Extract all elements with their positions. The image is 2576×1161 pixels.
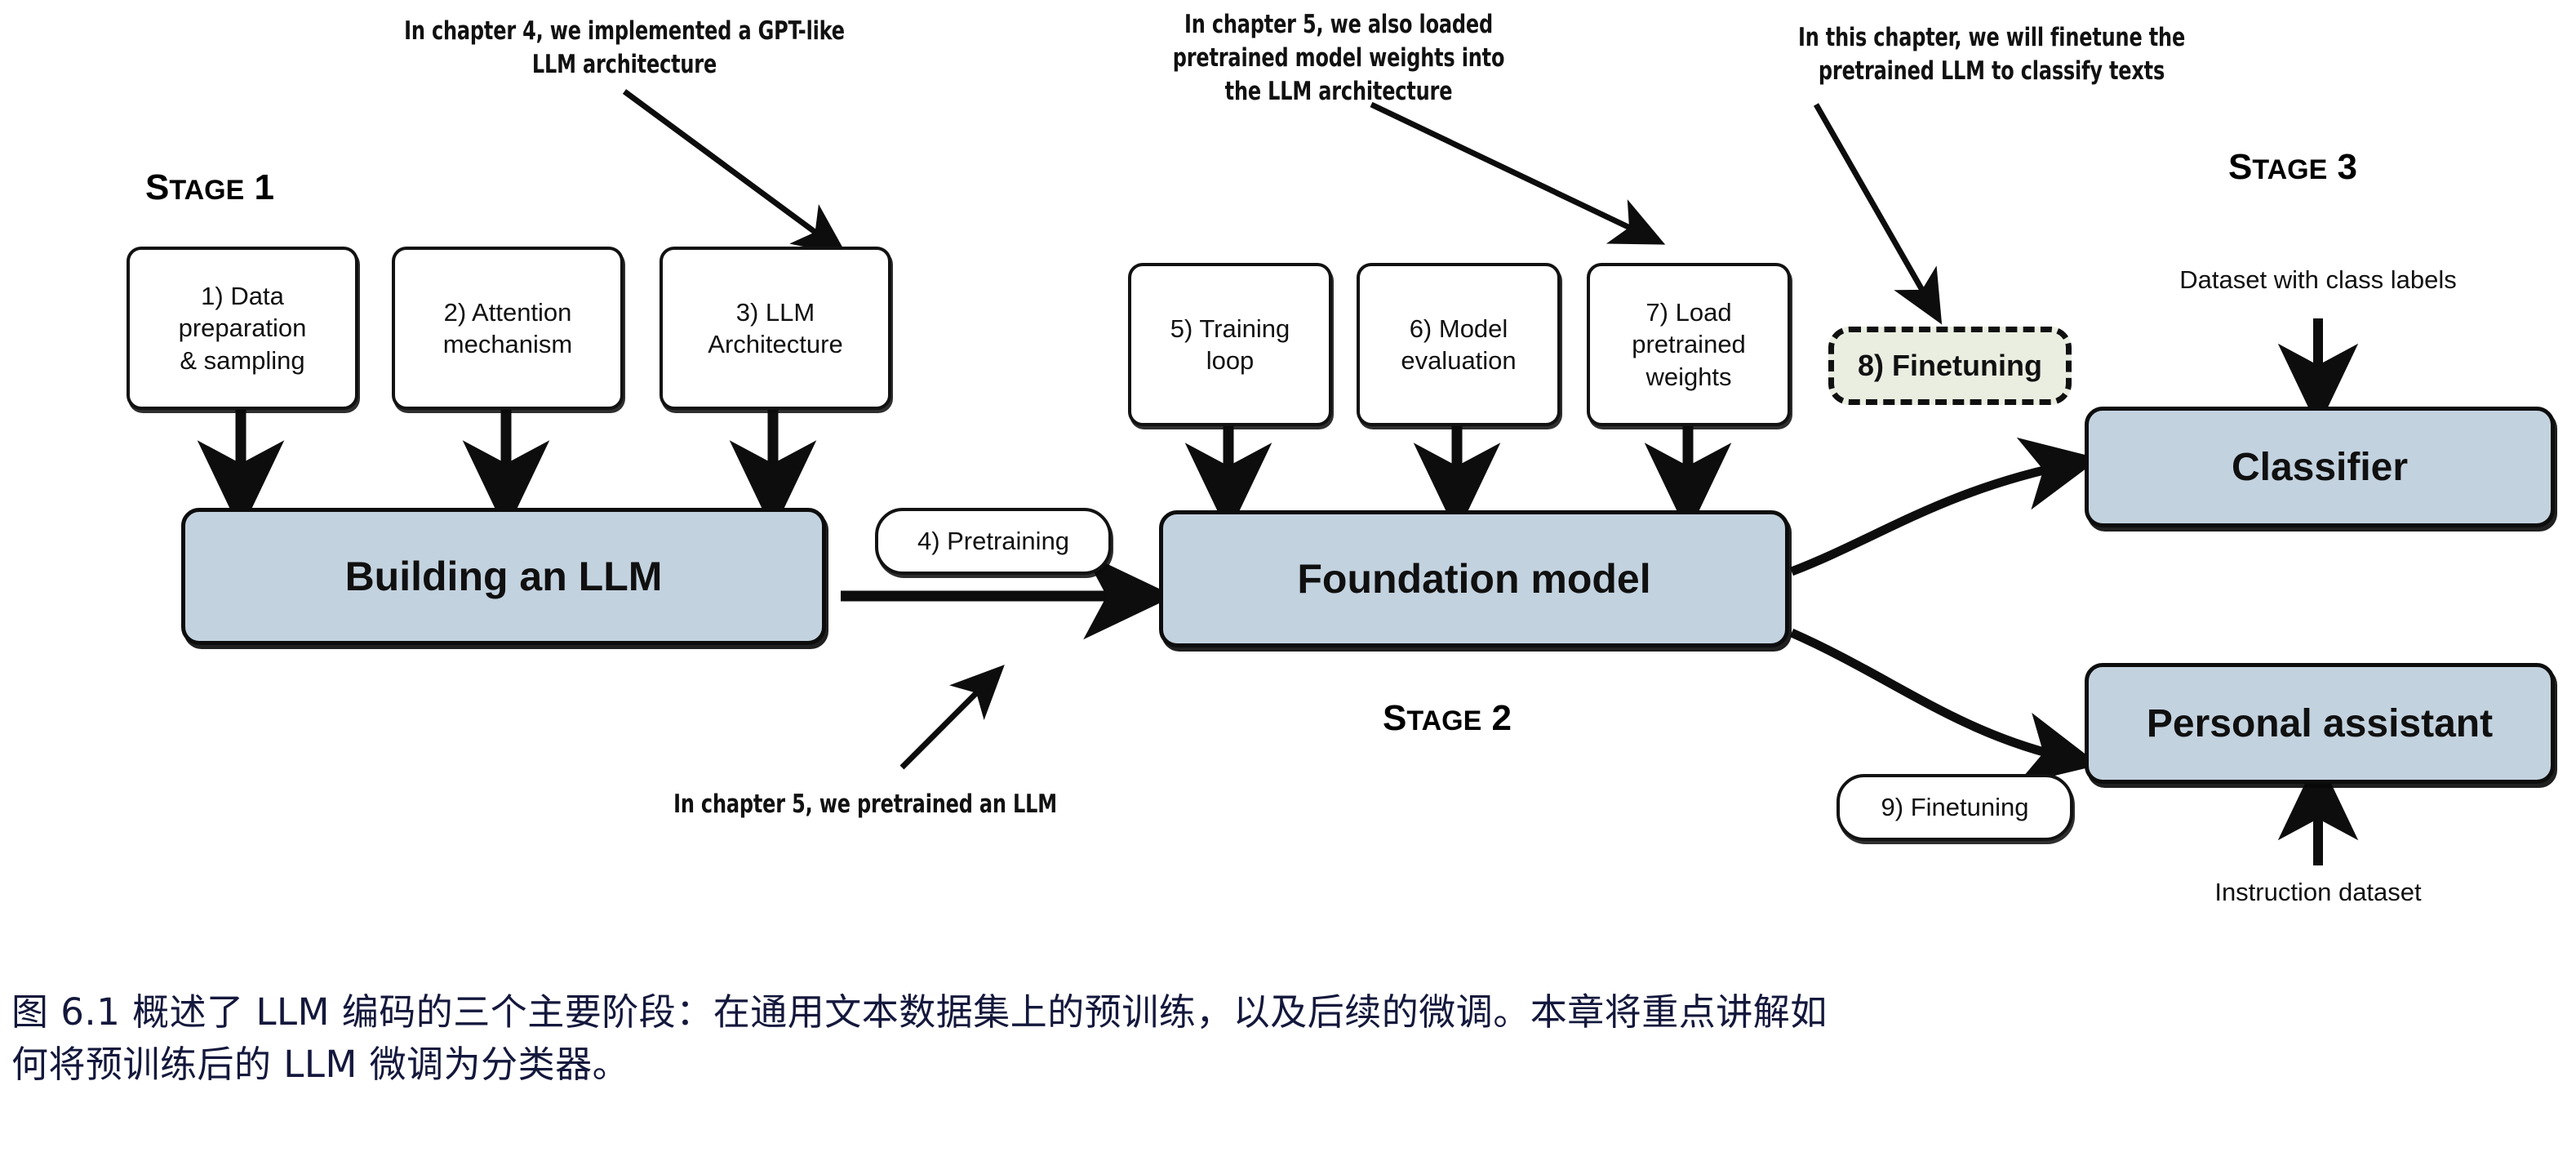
building-an-llm-box[interactable]: Building an LLM <box>181 508 826 645</box>
stage-1-rest: TAGE <box>169 175 244 206</box>
figure-canvas: In chapter 4, we implemented a GPT-like … <box>0 0 2576 1161</box>
annotation-chapter5-pretrained: In chapter 5, we pretrained an LLM <box>571 788 1160 821</box>
dataset-class-labels-caption: Dataset with class labels <box>2098 265 2538 295</box>
stage-1-number: 1 <box>244 167 274 207</box>
finetuning-assistant-pill[interactable]: 9) Finetuning <box>1837 774 2073 841</box>
stage-3-rest: TAGE <box>2252 154 2327 185</box>
figure-caption: 图 6.1 概述了 LLM 编码的三个主要阶段：在通用文本数据集上的预训练，以及… <box>11 986 2558 1091</box>
foundation-model-box[interactable]: Foundation model <box>1159 510 1789 647</box>
stage-3-number: 3 <box>2327 147 2357 187</box>
annotation-chapter5-loaded: In chapter 5, we also loaded pretrained … <box>1058 8 1619 109</box>
step-box-7[interactable]: 7) Load pretrained weights <box>1587 263 1791 426</box>
personal-assistant-box[interactable]: Personal assistant <box>2085 663 2555 784</box>
annotation-chapter4: In chapter 4, we implemented a GPT-like … <box>319 15 930 82</box>
arrow-foundation-to-assistant <box>1792 633 2073 759</box>
arrow-chapter5pretrained-to-pretraining <box>902 678 992 767</box>
stage-1-label: STAGE 1 <box>145 167 274 208</box>
arrow-chapter5-to-foundation <box>1371 105 1649 237</box>
stage-2-initial: S <box>1383 698 1406 738</box>
caption-line-2: 何将预训练后的 LLM 微调为分类器。 <box>11 1039 2558 1091</box>
annotation-this-chapter: In this chapter, we will finetune the pr… <box>1690 21 2294 88</box>
arrow-chapter4-to-step3 <box>624 91 833 245</box>
step-box-3[interactable]: 3) LLM Architecture <box>660 247 891 410</box>
stage-2-number: 2 <box>1481 698 1512 738</box>
step-box-5[interactable]: 5) Training loop <box>1128 263 1332 426</box>
stage-2-rest: TAGE <box>1406 705 1481 736</box>
classifier-box[interactable]: Classifier <box>2085 407 2555 527</box>
stage-2-label: STAGE 2 <box>1383 698 1512 739</box>
step-box-2[interactable]: 2) Attention mechanism <box>392 247 624 410</box>
pretraining-pill[interactable]: 4) Pretraining <box>875 508 1112 575</box>
instruction-dataset-caption: Instruction dataset <box>2098 878 2538 907</box>
arrow-foundation-to-classifier <box>1792 464 2073 572</box>
stage-3-initial: S <box>2228 147 2252 187</box>
arrow-thischapter-to-finetuning <box>1816 105 1933 309</box>
finetuning-dashed-box[interactable]: 8) Finetuning <box>1828 327 2072 405</box>
caption-line-1: 图 6.1 概述了 LLM 编码的三个主要阶段：在通用文本数据集上的预训练，以及… <box>11 986 2558 1039</box>
step-box-1[interactable]: 1) Data preparation & sampling <box>127 247 358 410</box>
step-box-6[interactable]: 6) Model evaluation <box>1357 263 1561 426</box>
stage-1-initial: S <box>145 167 169 207</box>
stage-3-label: STAGE 3 <box>2228 147 2357 188</box>
